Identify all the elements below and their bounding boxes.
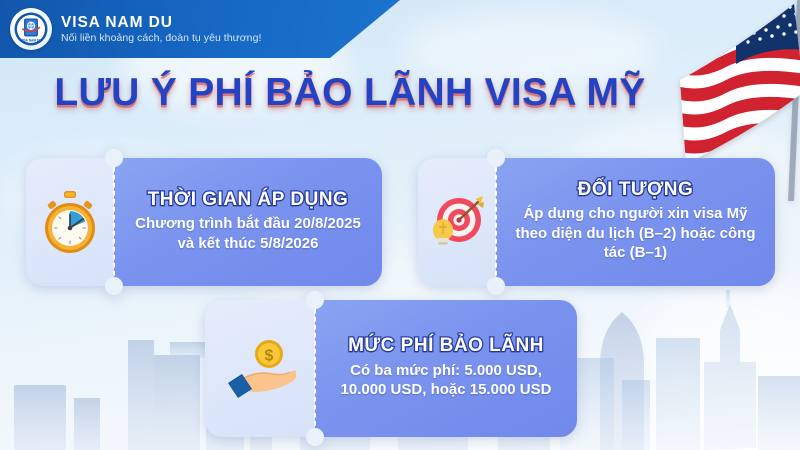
hand-coin-icon: $ (205, 300, 315, 437)
card-doi-tuong: ĐỐI TƯỢNG Áp dụng cho người xin visa Mỹ … (418, 158, 775, 286)
card-heading: ĐỐI TƯỢNG (578, 179, 694, 200)
card-body-text: Áp dụng cho người xin visa Mỹ theo diện … (508, 204, 763, 263)
ticket-perforation (314, 309, 316, 428)
card-content-panel: THỜI GIAN ÁP DỤNG Chương trình bắt đầu 2… (114, 158, 382, 286)
card-body-text: Có ba mức phí: 5.000 USD, 10.000 USD, ho… (327, 361, 565, 400)
stopwatch-icon (26, 158, 114, 286)
card-heading: MỨC PHÍ BẢO LÃNH (348, 335, 544, 356)
card-content-panel: MỨC PHÍ BẢO LÃNH Có ba mức phí: 5.000 US… (315, 300, 577, 437)
page-title: LƯU Ý PHÍ BẢO LÃNH VISA MỸ (0, 73, 700, 112)
ticket-perforation (495, 167, 497, 277)
card-thoi-gian-ap-dung: THỜI GIAN ÁP DỤNG Chương trình bắt đầu 2… (26, 158, 382, 286)
cloud-decor (640, 280, 800, 420)
svg-text:VISA NAM DU: VISA NAM DU (21, 38, 43, 42)
passport-logo-icon: VISA NAM DU (10, 8, 52, 50)
ticket-perforation (113, 167, 115, 277)
svg-text:$: $ (265, 347, 274, 364)
card-muc-phi-bao-lanh: $ MỨC PHÍ BẢO LÃNH Có ba mức phí: 5.000 … (205, 300, 577, 437)
card-body-text: Chương trình bắt đầu 20/8/2025 và kết th… (126, 214, 370, 253)
brand-header: VISA NAM DU VISA NAM DU Nối liền khoảng … (0, 0, 400, 58)
card-icon-panel (418, 158, 496, 286)
card-icon-panel: $ (205, 300, 315, 437)
brand-text-block: VISA NAM DU Nối liền khoảng cách, đoàn t… (61, 14, 261, 44)
card-content-panel: ĐỐI TƯỢNG Áp dụng cho người xin visa Mỹ … (496, 158, 775, 286)
brand-name: VISA NAM DU (61, 14, 261, 31)
target-lightbulb-icon (418, 158, 496, 286)
card-heading: THỜI GIAN ÁP DỤNG (148, 189, 349, 210)
brand-tagline: Nối liền khoảng cách, đoàn tụ yêu thương… (61, 32, 261, 44)
card-icon-panel (26, 158, 114, 286)
